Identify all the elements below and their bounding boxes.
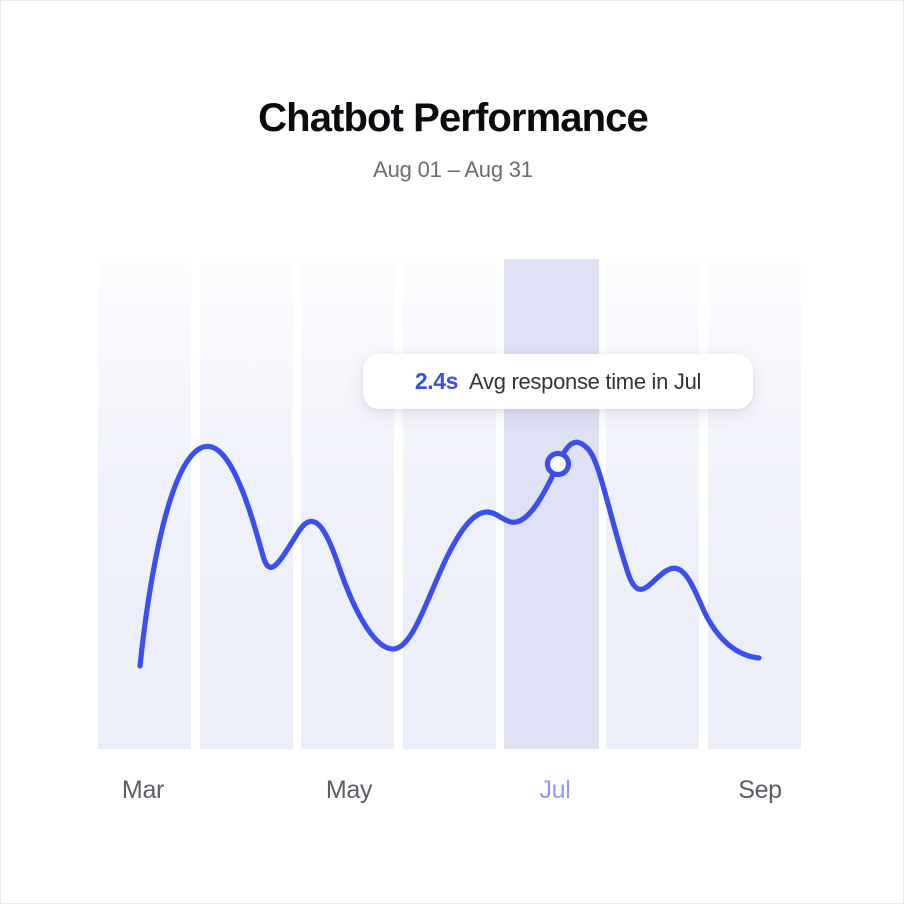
chart-tooltip[interactable]: 2.4s Avg response time in Jul	[363, 354, 753, 409]
x-axis-tick-sep[interactable]: Sep	[738, 773, 782, 807]
tooltip-value: 2.4s	[415, 368, 458, 395]
chart-header: Chatbot Performance Aug 01 – Aug 31	[1, 93, 904, 184]
plot-area	[98, 259, 808, 749]
x-axis-tick-mar[interactable]: Mar	[122, 773, 164, 807]
response-time-line-chart	[98, 259, 808, 749]
x-axis: Mar May Jul Sep	[98, 773, 808, 813]
highlighted-data-point-marker[interactable]	[548, 454, 569, 475]
x-axis-tick-may[interactable]: May	[326, 773, 372, 807]
tooltip-label: Avg response time in Jul	[469, 369, 701, 395]
page-title: Chatbot Performance	[1, 93, 904, 143]
x-axis-tick-jul[interactable]: Jul	[539, 773, 570, 807]
chart-card: Chatbot Performance Aug 01 – Aug 31 2.4s…	[0, 0, 904, 904]
series-line-avg-response-time	[140, 442, 759, 666]
date-range-subtitle: Aug 01 – Aug 31	[1, 156, 904, 184]
